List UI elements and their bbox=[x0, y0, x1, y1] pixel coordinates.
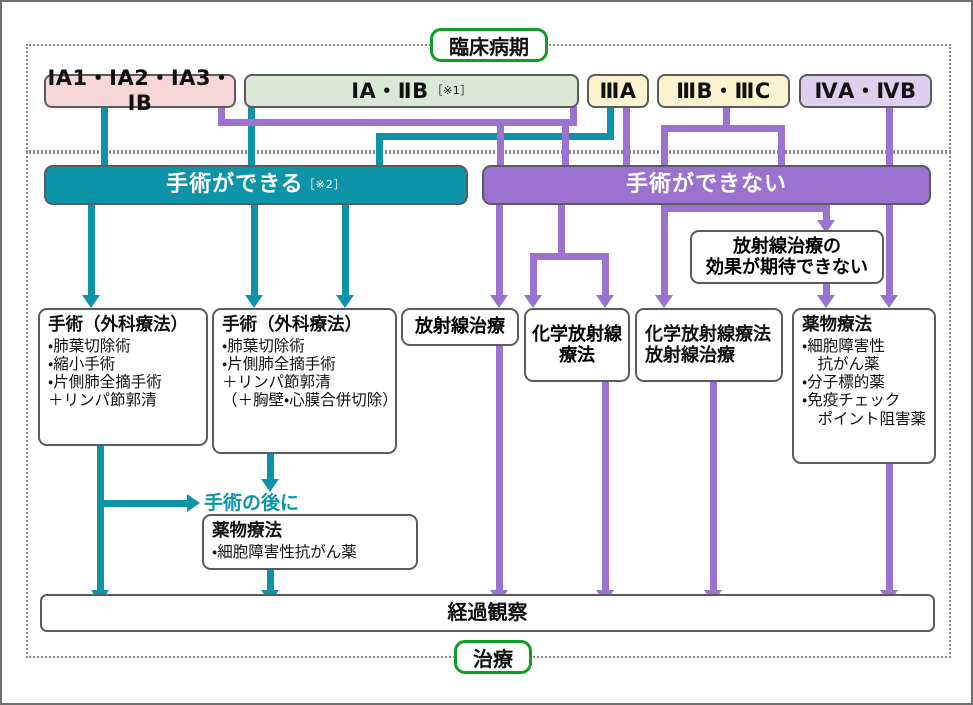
treatment-box-drug-therapy-item-3: ・免疫チェック bbox=[802, 391, 900, 409]
connector-surgery2-to-post bbox=[267, 454, 274, 482]
treatment-box-surgery-early-item-3: ＋リンパ節郭清 bbox=[48, 391, 157, 409]
treatment-box-surgery-advanced-item-1: ・片側肺全摘手術 bbox=[222, 355, 336, 373]
connector-operable-to-surgery2 bbox=[251, 205, 258, 297]
section-tag-clinical-stage-label: 臨床病期 bbox=[449, 31, 529, 60]
treatment-box-drug-therapy-item-4: ポイント阻害薬 bbox=[802, 410, 926, 428]
treatment-box-surgery-advanced-item-0: ・肺葉切除術 bbox=[222, 337, 305, 355]
arrowhead-chemoradio-right bbox=[596, 295, 614, 308]
stage-box-ia1-ia2-ia3-ib-label: ⅠA1・ⅠA2・ⅠA3・ⅠB bbox=[46, 66, 234, 116]
treatment-box-chemoradiotherapy-line-1: 療法 bbox=[559, 345, 595, 366]
arrowhead-chemoradio-left bbox=[524, 295, 542, 308]
treatment-box-surgery-early-title: 手術（外科療法） bbox=[48, 315, 188, 336]
treatment-box-radiotherapy[interactable]: 放射線治療 bbox=[401, 308, 519, 346]
connector-inoperable-split-v1 bbox=[558, 205, 565, 260]
treatment-box-chemoradiotherapy[interactable]: 化学放射線 療法 bbox=[524, 308, 630, 382]
treatment-box-surgery-early-item-2: ・片側肺全摘手術 bbox=[48, 373, 162, 391]
connector-stage2-to-inoperable-v2 bbox=[562, 119, 569, 165]
arrowhead-inoperable-to-radiotherapy bbox=[490, 295, 508, 308]
connector-stage4-h bbox=[661, 125, 785, 132]
connector-stage3-to-inoperable bbox=[623, 106, 630, 165]
connector-stage4-v-left bbox=[661, 125, 668, 165]
treatment-box-radiotherapy-line-0: 放射線治療 bbox=[415, 316, 505, 337]
connector-operable-to-surgery3 bbox=[342, 205, 349, 297]
observation-bar-label: 経過観察 bbox=[448, 601, 528, 625]
connector-operable-to-surgery1 bbox=[88, 205, 95, 297]
treatment-box-surgery-advanced-item-3: （＋胸壁・心膜合併切除） bbox=[222, 391, 398, 409]
arrowhead-to-post-surgery bbox=[187, 494, 200, 512]
arrowhead-chemoradio-radio bbox=[655, 295, 673, 308]
connector-stage3-to-operable-v2 bbox=[376, 133, 383, 165]
connector-branch-to-condition-h bbox=[661, 205, 830, 212]
arrowhead-operable-to-surgery1 bbox=[82, 295, 100, 308]
section-tag-clinical-stage: 臨床病期 bbox=[430, 28, 548, 62]
treatment-box-surgery-advanced-item-2: ＋リンパ節郭清 bbox=[222, 373, 331, 391]
treatment-box-surgery-early-item-0: ・肺葉切除術 bbox=[48, 337, 131, 355]
stage-box-iiia-label: ⅢA bbox=[599, 79, 636, 104]
connector-inoperable-to-radiotherapy bbox=[496, 205, 503, 297]
stage-box-iiib-iiic[interactable]: ⅢB・ⅢC bbox=[657, 74, 790, 108]
arrowhead-operable-to-surgery3 bbox=[336, 295, 354, 308]
treatment-box-surgery-early-item-1: ・縮小手術 bbox=[48, 355, 115, 373]
decision-bar-inoperable[interactable]: 手術ができない bbox=[482, 165, 931, 205]
connector-chemoradio-to-observation bbox=[602, 382, 609, 594]
connector-inoperable-to-chemoradio-radio bbox=[661, 205, 668, 297]
connector-stage2-to-operable-v1 bbox=[248, 106, 255, 165]
stage-box-ia-iib-note: ［※1］ bbox=[432, 85, 472, 98]
post-surgery-drug-box-title: 薬物療法 bbox=[212, 521, 282, 542]
post-surgery-drug-box[interactable]: 薬物療法 ・細胞障害性抗がん薬 bbox=[202, 514, 418, 570]
treatment-box-drug-therapy-item-2: ・分子標的薬 bbox=[802, 373, 885, 391]
arrowhead-condition-to-drug bbox=[817, 295, 835, 308]
condition-box-line1: 放射線治療の bbox=[733, 236, 841, 257]
stage-box-ia-iib-label: ⅠA・ⅡB bbox=[351, 79, 428, 104]
treatment-box-chemoradio-radio-line-1: 放射線治療 bbox=[645, 345, 735, 366]
stage-box-ia-iib[interactable]: ⅠA・ⅡB ［※1］ bbox=[244, 74, 579, 108]
connector-inoperable-to-drug bbox=[886, 205, 893, 297]
connector-inoperable-split-h bbox=[530, 253, 609, 260]
connector-surgery1-down bbox=[97, 446, 104, 594]
decision-bar-operable-label: 手術ができる bbox=[166, 172, 304, 198]
treatment-box-drug-therapy-title: 薬物療法 bbox=[802, 315, 872, 336]
condition-box-line2: 効果が期待できない bbox=[706, 257, 868, 278]
treatment-box-surgery-advanced-title: 手術（外科療法） bbox=[222, 315, 362, 336]
connector-stage5-to-inoperable bbox=[886, 106, 893, 165]
decision-bar-operable[interactable]: 手術ができる ［※2］ bbox=[44, 165, 468, 205]
treatment-box-drug-therapy-item-1: 抗がん薬 bbox=[802, 355, 880, 373]
post-surgery-label: 手術の後に bbox=[204, 488, 299, 515]
connector-radiotherapy-to-observation bbox=[496, 346, 503, 594]
treatment-box-chemoradio-radio-line-0: 化学放射線療法 bbox=[645, 324, 771, 345]
condition-box-radiation-ineffective[interactable]: 放射線治療の 効果が期待できない bbox=[690, 230, 884, 284]
connector-stage3-to-operable-v1 bbox=[607, 106, 614, 136]
section-tag-treatment-label: 治療 bbox=[473, 643, 513, 672]
post-surgery-drug-box-item-0: ・細胞障害性抗がん薬 bbox=[212, 543, 357, 561]
arrowhead-inoperable-to-drug bbox=[880, 295, 898, 308]
treatment-box-drug-therapy[interactable]: 薬物療法 ・細胞障害性 抗がん薬 ・分子標的薬 ・免疫チェック ポイント阻害薬 bbox=[792, 308, 936, 464]
stage-box-iiia[interactable]: ⅢA bbox=[587, 74, 649, 108]
decision-bar-inoperable-label: 手術ができない bbox=[626, 172, 787, 198]
observation-bar[interactable]: 経過観察 bbox=[40, 594, 935, 632]
treatment-box-surgery-early[interactable]: 手術（外科療法） ・肺葉切除術 ・縮小手術 ・片側肺全摘手術 ＋リンパ節郭清 bbox=[38, 308, 208, 446]
treatment-box-chemoradiotherapy-line-0: 化学放射線 bbox=[532, 324, 622, 345]
section-tag-treatment: 治療 bbox=[454, 640, 532, 674]
connector-stage3-to-operable-h bbox=[376, 133, 614, 140]
stage-box-ia1-ia2-ia3-ib[interactable]: ⅠA1・ⅠA2・ⅠA3・ⅠB bbox=[44, 74, 236, 108]
treatment-box-surgery-advanced[interactable]: 手術（外科療法） ・肺葉切除術 ・片側肺全摘手術 ＋リンパ節郭清 （＋胸壁・心膜… bbox=[212, 308, 397, 454]
connector-stage2-to-inoperable-h bbox=[218, 119, 577, 126]
diagram-canvas: 臨床病期 治療 bbox=[0, 0, 973, 705]
stage-box-iva-ivb[interactable]: ⅣA・ⅣB bbox=[799, 74, 932, 108]
decision-bar-operable-note: ［※2］ bbox=[304, 179, 346, 192]
connector-surgery1-to-post-h bbox=[97, 500, 190, 507]
stage-box-iva-ivb-label: ⅣA・ⅣB bbox=[815, 79, 917, 104]
connector-inoperable-split-left bbox=[530, 253, 537, 297]
treatment-box-chemoradio-radio[interactable]: 化学放射線療法 放射線治療 bbox=[635, 308, 783, 382]
arrowhead-operable-to-surgery2 bbox=[245, 295, 263, 308]
treatment-box-drug-therapy-item-0: ・細胞障害性 bbox=[802, 337, 885, 355]
stage-box-iiib-iiic-label: ⅢB・ⅢC bbox=[676, 79, 771, 104]
connector-chemoradio-radio-to-observation bbox=[710, 382, 717, 594]
connector-inoperable-split-right bbox=[602, 253, 609, 297]
connector-stage4-v-right bbox=[778, 125, 785, 165]
connector-drug-to-observation bbox=[886, 464, 893, 594]
